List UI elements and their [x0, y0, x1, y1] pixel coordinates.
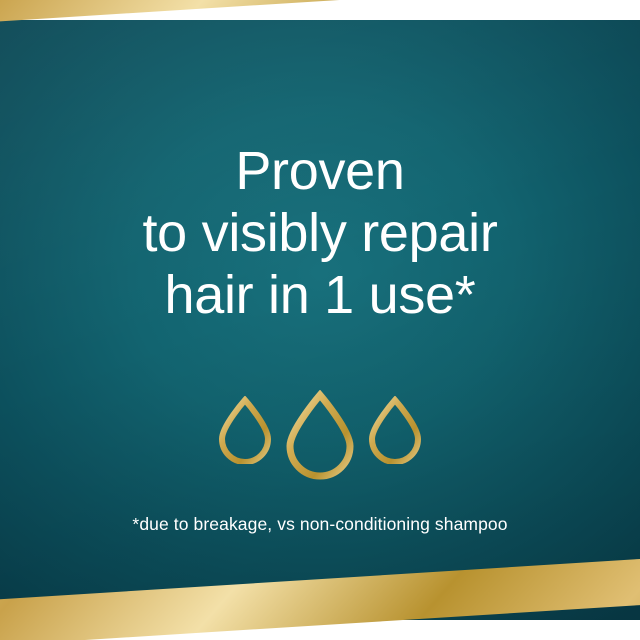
droplet-icon-center: [281, 390, 359, 485]
headline-text: Proven to visibly repair hair in 1 use*: [0, 140, 640, 326]
footnote-text: *due to breakage, vs non-conditioning sh…: [0, 512, 640, 536]
droplet-icon-left: [216, 396, 274, 469]
advertising-banner: Proven to visibly repair hair in 1 use*: [0, 0, 640, 640]
droplet-icon-right: [366, 396, 424, 469]
droplet-group: [0, 390, 640, 490]
